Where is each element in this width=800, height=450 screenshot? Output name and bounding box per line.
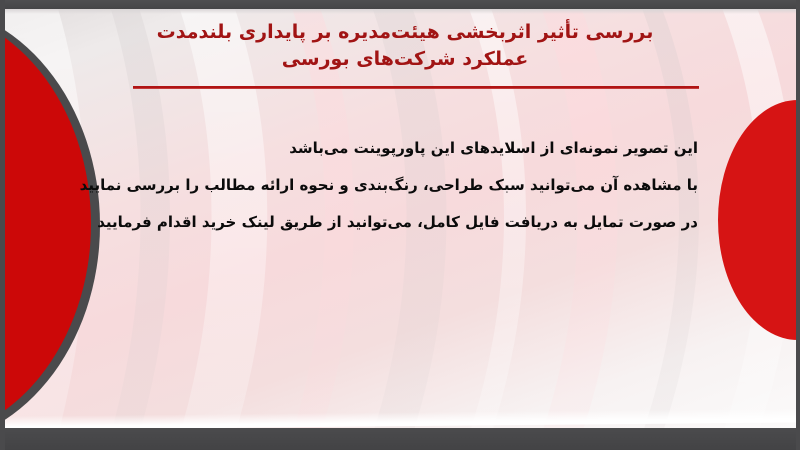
body-line-2: با مشاهده آن می‌توانید سبک طراحی، رنگ‌بن… bbox=[78, 167, 698, 204]
title-line-2: عملکرد شرکت‌های بورسی bbox=[105, 46, 705, 73]
slide-body-text: این تصویر نمونه‌ای از اسلایدهای این پاور… bbox=[78, 130, 698, 241]
slide-title: بررسی تأثیر اثربخشی هیئت‌مدیره بر پایدار… bbox=[105, 19, 705, 73]
frame-left-band bbox=[0, 0, 5, 450]
body-line-3: در صورت تمایل به دریافت فایل کامل، می‌تو… bbox=[78, 204, 698, 241]
presentation-slide: بررسی تأثیر اثربخشی هیئت‌مدیره بر پایدار… bbox=[0, 0, 800, 450]
body-line-1: این تصویر نمونه‌ای از اسلایدهای این پاور… bbox=[78, 130, 698, 167]
frame-top-band bbox=[0, 0, 800, 9]
title-underline bbox=[133, 86, 699, 89]
slide-content: بررسی تأثیر اثربخشی هیئت‌مدیره بر پایدار… bbox=[5, 9, 796, 430]
title-line-1: بررسی تأثیر اثربخشی هیئت‌مدیره بر پایدار… bbox=[105, 19, 705, 46]
frame-bottom-band bbox=[0, 428, 800, 450]
frame-right-band bbox=[796, 0, 800, 450]
